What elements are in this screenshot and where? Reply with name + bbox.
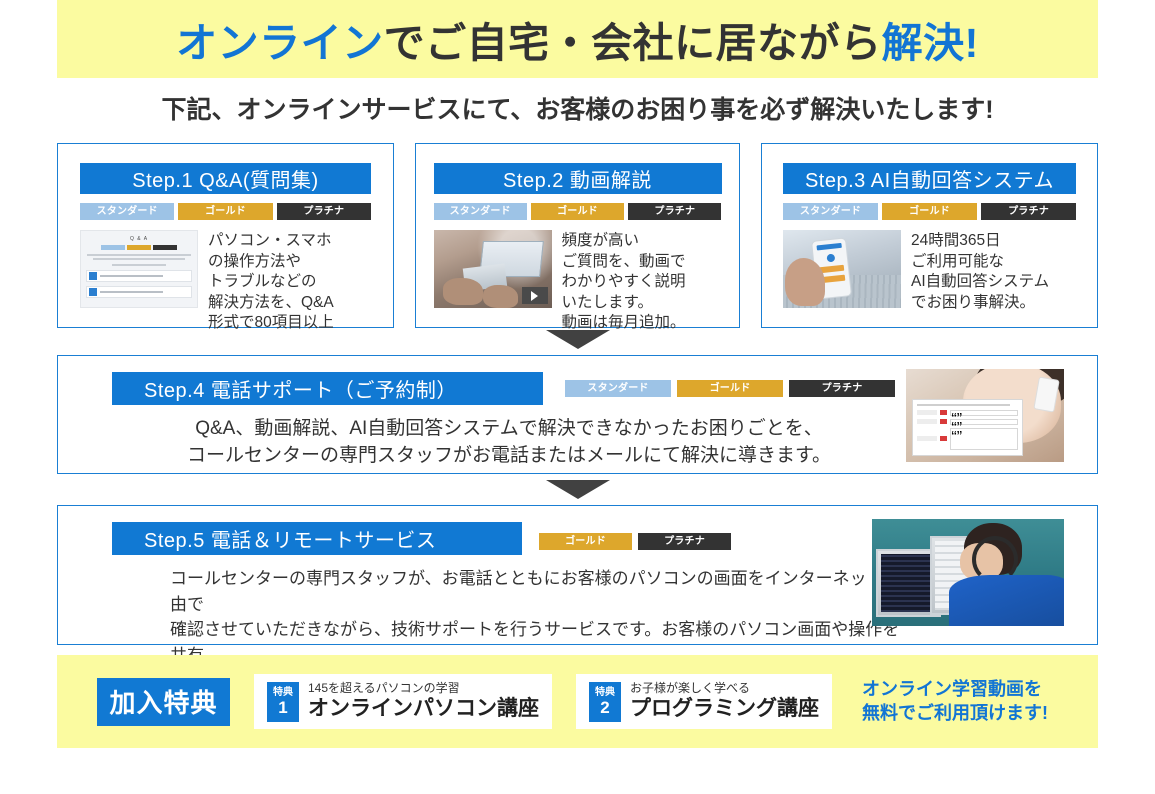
- page-title-tail: 解決!: [882, 20, 979, 66]
- qa-thumb-row: [86, 270, 192, 282]
- tier-badge-standard: スタンダード: [565, 380, 671, 397]
- benefit-2-label: 特典: [595, 688, 615, 698]
- tier-badge-standard: スタンダード: [434, 203, 527, 220]
- tier-badge-gold: ゴールド: [178, 203, 272, 220]
- benefit-1-label: 特典: [273, 688, 293, 698]
- benefit-item-1[interactable]: 特典 1 145を超えるパソコンの学習 オンラインパソコン講座: [254, 674, 552, 729]
- step-panel-5[interactable]: Step.5 電話＆リモートサービス ゴールド プラチナ コールセンターの専門ス…: [57, 505, 1098, 645]
- play-icon[interactable]: [522, 287, 548, 304]
- step-5-heading: Step.5 電話＆リモートサービス: [112, 522, 522, 555]
- benefit-2-copy: お子様が楽しく学べる プログラミング講座: [630, 682, 819, 721]
- benefit-1-number: 1: [278, 699, 287, 716]
- step-1-body: Q & A パソコン・スマホ の操作方法や トラブルなどの 解決方法を、Q&A …: [80, 230, 371, 334]
- tier-badge-gold: ゴールド: [531, 203, 624, 220]
- benefit-2-title: プログラミング講座: [630, 697, 819, 721]
- tier-badge-platinum: プラチナ: [789, 380, 895, 397]
- benefit-2-badge: 特典 2: [589, 682, 621, 722]
- step-panel-4[interactable]: Step.4 電話サポート（ご予約制） スタンダード ゴールド プラチナ Q&A…: [57, 355, 1098, 474]
- benefits-title: 加入特典: [97, 678, 230, 726]
- tier-badge-gold: ゴールド: [539, 533, 632, 550]
- phone-support-photo: [906, 369, 1064, 462]
- infographic-page: オンラインでご自宅・会社に居ながら解決! 下記、オンラインサービスにて、お客様の…: [0, 0, 1155, 794]
- qa-thumb-title: Q & A: [81, 236, 197, 242]
- page-subtitle: 下記、オンラインサービスにて、お客様のお困り事を必ず解決いたします!: [0, 90, 1155, 126]
- video-thumbnail: [434, 230, 552, 308]
- tier-badge-platinum: プラチナ: [277, 203, 371, 220]
- tier-badge-platinum: プラチナ: [981, 203, 1076, 220]
- benefit-1-badge: 特典 1: [267, 682, 299, 722]
- remote-support-photo: [872, 519, 1064, 626]
- qa-page-thumbnail: Q & A: [80, 230, 198, 308]
- step-3-heading: Step.3 AI自動回答システム: [783, 163, 1076, 194]
- benefits-band: 加入特典 特典 1 145を超えるパソコンの学習 オンラインパソコン講座 特典 …: [57, 655, 1098, 748]
- step-4-heading: Step.4 電話サポート（ご予約制）: [112, 372, 543, 405]
- benefit-2-number: 2: [600, 699, 609, 716]
- step-3-description: 24時間365日 ご利用可能な AI自動回答システム でお困り事解決。: [911, 230, 1049, 313]
- step-2-description: 頻度が高い ご質問を、動画で わかりやすく説明 いたします。 動画は毎月追加。: [562, 230, 686, 334]
- qa-thumb-row: [86, 286, 192, 298]
- step-1-description: パソコン・スマホ の操作方法や トラブルなどの 解決方法を、Q&A 形式で80項…: [208, 230, 334, 334]
- step-3-body: 24時間365日 ご利用可能な AI自動回答システム でお困り事解決。: [783, 230, 1076, 313]
- step-3-tiers: スタンダード ゴールド プラチナ: [783, 203, 1076, 220]
- hero-band: オンラインでご自宅・会社に居ながら解決!: [57, 0, 1098, 78]
- page-title-lead: オンライン: [176, 20, 384, 66]
- tier-badge-standard: スタンダード: [80, 203, 174, 220]
- step-card-1[interactable]: Step.1 Q&A(質問集) スタンダード ゴールド プラチナ Q & A パ…: [57, 143, 394, 328]
- step-5-tiers: ゴールド プラチナ: [539, 533, 731, 550]
- qa-thumb-paragraph: [87, 254, 191, 266]
- step-card-2[interactable]: Step.2 動画解説 スタンダード ゴールド プラチナ 頻度が高い ご質問を、…: [415, 143, 740, 328]
- step-2-tiers: スタンダード ゴールド プラチナ: [434, 203, 722, 220]
- step-cards-row: Step.1 Q&A(質問集) スタンダード ゴールド プラチナ Q & A パ…: [57, 143, 1098, 328]
- qa-thumb-badges: [81, 245, 197, 250]
- tier-badge-gold: ゴールド: [677, 380, 783, 397]
- benefit-2-subtitle: お子様が楽しく学べる: [630, 682, 819, 695]
- benefit-item-2[interactable]: 特典 2 お子様が楽しく学べる プログラミング講座: [576, 674, 832, 729]
- step-4-description: Q&A、動画解説、AI自動回答システムで解決できなかったお困りごとを、 コールセ…: [114, 416, 904, 470]
- smartphone-thumbnail: [783, 230, 901, 308]
- down-arrow-icon: [546, 480, 610, 499]
- step-1-tiers: スタンダード ゴールド プラチナ: [80, 203, 371, 220]
- page-title: オンラインでご自宅・会社に居ながら解決!: [176, 9, 979, 69]
- step-1-heading: Step.1 Q&A(質問集): [80, 163, 371, 194]
- tier-badge-standard: スタンダード: [783, 203, 878, 220]
- step-2-body: 頻度が高い ご質問を、動画で わかりやすく説明 いたします。 動画は毎月追加。: [434, 230, 722, 334]
- tier-badge-platinum: プラチナ: [638, 533, 731, 550]
- step-4-tiers: スタンダード ゴールド プラチナ: [565, 380, 895, 397]
- benefits-note: オンライン学習動画を 無料でご利用頂けます!: [862, 678, 1048, 725]
- benefit-1-copy: 145を超えるパソコンの学習 オンラインパソコン講座: [308, 682, 539, 721]
- benefit-1-title: オンラインパソコン講座: [308, 697, 539, 721]
- down-arrow-icon: [546, 330, 610, 349]
- step-2-heading: Step.2 動画解説: [434, 163, 722, 194]
- step-card-3[interactable]: Step.3 AI自動回答システム スタンダード ゴールド プラチナ 24時間3…: [761, 143, 1098, 328]
- benefit-1-subtitle: 145を超えるパソコンの学習: [308, 682, 539, 695]
- tier-badge-gold: ゴールド: [882, 203, 977, 220]
- page-title-mid: でご自宅・会社に居ながら: [384, 20, 882, 66]
- tier-badge-platinum: プラチナ: [628, 203, 721, 220]
